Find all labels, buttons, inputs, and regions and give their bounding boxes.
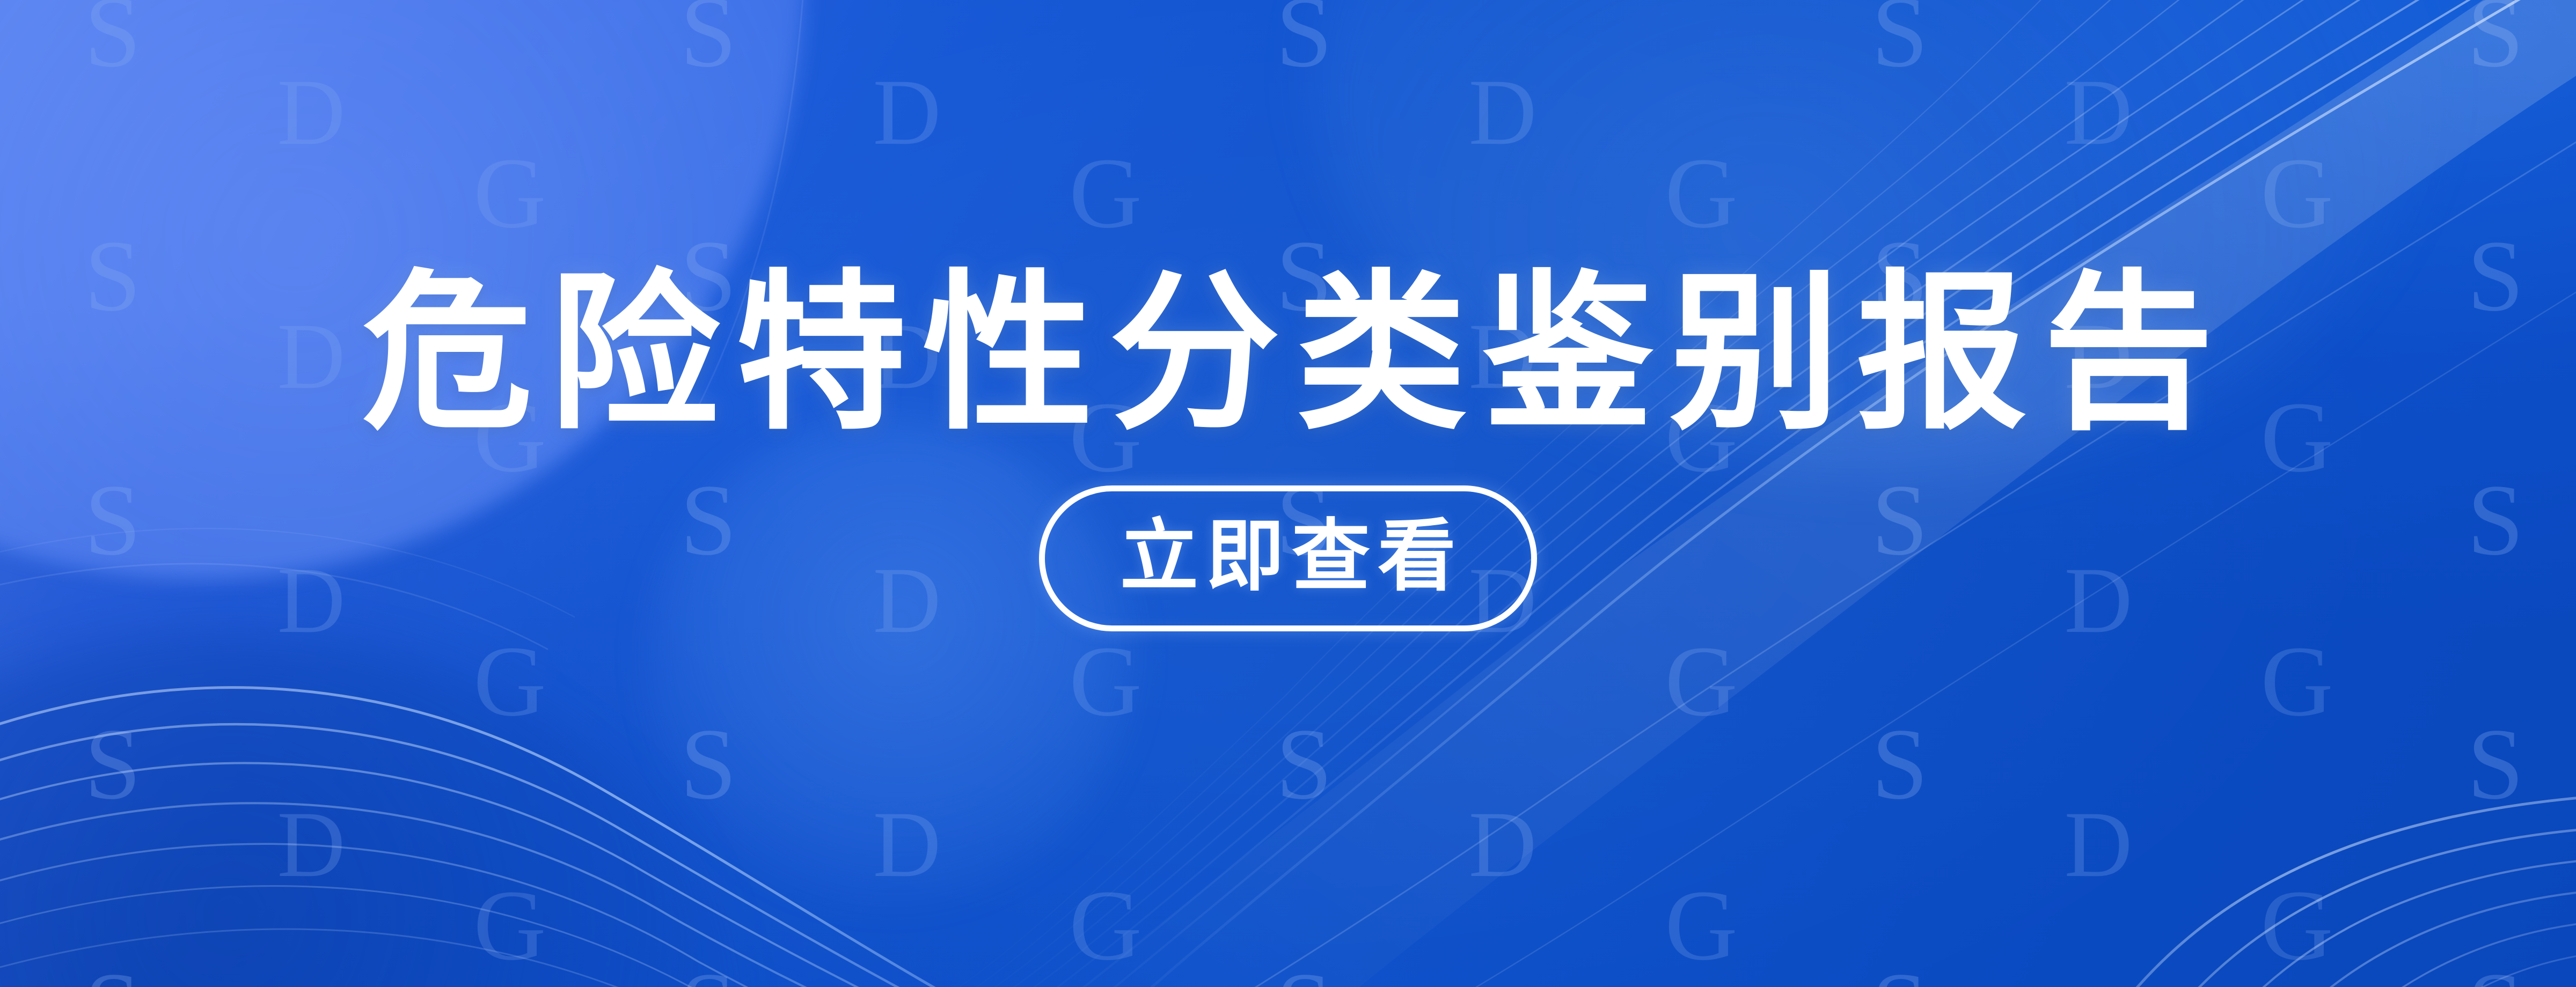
watermark-letter: S bbox=[680, 225, 737, 327]
watermark-letter: D bbox=[277, 65, 345, 160]
watermark-letter: G bbox=[1665, 387, 1738, 488]
view-now-button[interactable]: 立即查看 bbox=[1039, 485, 1537, 631]
wave-top-left-echo bbox=[0, 528, 574, 649]
decorative-circle-top-left bbox=[0, 0, 805, 579]
watermark-letter: D bbox=[1468, 798, 1536, 892]
watermark-letter: G bbox=[473, 143, 546, 244]
watermark-letter: S bbox=[2467, 469, 2524, 571]
wave-bottom-right bbox=[2082, 794, 2576, 987]
watermark-letter: S bbox=[84, 225, 141, 327]
watermark-letter: S bbox=[680, 957, 737, 987]
watermark-letter: S bbox=[84, 957, 141, 987]
watermark-letter: D bbox=[277, 310, 345, 404]
watermark-letter: D bbox=[277, 798, 345, 892]
watermark-letter: G bbox=[1069, 631, 1142, 732]
watermark-letter: D bbox=[2064, 310, 2132, 404]
watermark-letter: G bbox=[1069, 875, 1142, 976]
view-now-button-label: 立即查看 bbox=[1113, 517, 1463, 600]
watermark-letter: G bbox=[2260, 143, 2333, 244]
watermark-letter: S bbox=[1871, 469, 1928, 571]
watermark-letter: G bbox=[473, 387, 546, 488]
watermark-letter: S bbox=[1276, 957, 1333, 987]
watermark-letter: D bbox=[873, 65, 941, 160]
watermark-letter: S bbox=[1276, 713, 1333, 815]
banner-content: 危险特性分类鉴别报告 立即查看 bbox=[0, 0, 2576, 987]
watermark-letter: G bbox=[1665, 631, 1738, 732]
watermark-letter: D bbox=[1468, 310, 1536, 404]
watermark-letter: G bbox=[2260, 875, 2333, 976]
watermark-letter: G bbox=[1665, 875, 1738, 976]
watermark-letter: D bbox=[873, 554, 941, 648]
watermark-letter: D bbox=[2064, 554, 2132, 648]
promo-banner: GDGDGDGDGDGSDGSDGSDGSDGSDGSDGSDGSDGSDGSD… bbox=[0, 0, 2576, 987]
page-title: 危险特性分类鉴别报告 bbox=[346, 253, 2230, 454]
decorative-shadow-bottom-left bbox=[0, 633, 741, 987]
watermark-letter: S bbox=[680, 469, 737, 571]
watermark-letter: S bbox=[2467, 957, 2524, 987]
watermark-letter: S bbox=[84, 713, 141, 815]
watermark-letter: S bbox=[680, 0, 737, 83]
watermark-letter: S bbox=[1871, 0, 1928, 83]
watermark-letter: D bbox=[1468, 65, 1536, 160]
watermark-letter: G bbox=[473, 631, 546, 732]
watermark-letter: S bbox=[1276, 0, 1333, 83]
watermark-letter: G bbox=[473, 875, 546, 976]
watermark-letter: S bbox=[2467, 225, 2524, 327]
watermark-letter: S bbox=[2467, 0, 2524, 83]
watermark-letter: G bbox=[2260, 631, 2333, 732]
watermark-letter: G bbox=[1069, 387, 1142, 488]
watermark-letter: D bbox=[277, 554, 345, 648]
watermark-letter: D bbox=[873, 798, 941, 892]
watermark-letter: D bbox=[2064, 65, 2132, 160]
watermark-letter: S bbox=[1276, 225, 1333, 327]
watermark-letter: S bbox=[84, 469, 141, 571]
watermark-letter: S bbox=[1871, 713, 1928, 815]
watermark-letter: D bbox=[873, 310, 941, 404]
cta-wrapper: 立即查看 bbox=[1039, 485, 1537, 631]
watermark-letter: S bbox=[1871, 225, 1928, 327]
watermark-letter: D bbox=[2064, 798, 2132, 892]
watermark-letter: G bbox=[1665, 143, 1738, 244]
watermark-letter: S bbox=[2467, 713, 2524, 815]
center-sweeps bbox=[698, 0, 2576, 987]
decorative-glow-upper-right bbox=[1315, 0, 2442, 472]
watermark-letter: G bbox=[2260, 387, 2333, 488]
watermark-letter: S bbox=[84, 0, 141, 83]
watermark-letter: S bbox=[1871, 957, 1928, 987]
wave-bottom-left bbox=[0, 688, 1260, 987]
watermark-letter: G bbox=[1069, 143, 1142, 244]
watermark-letter: S bbox=[680, 713, 737, 815]
